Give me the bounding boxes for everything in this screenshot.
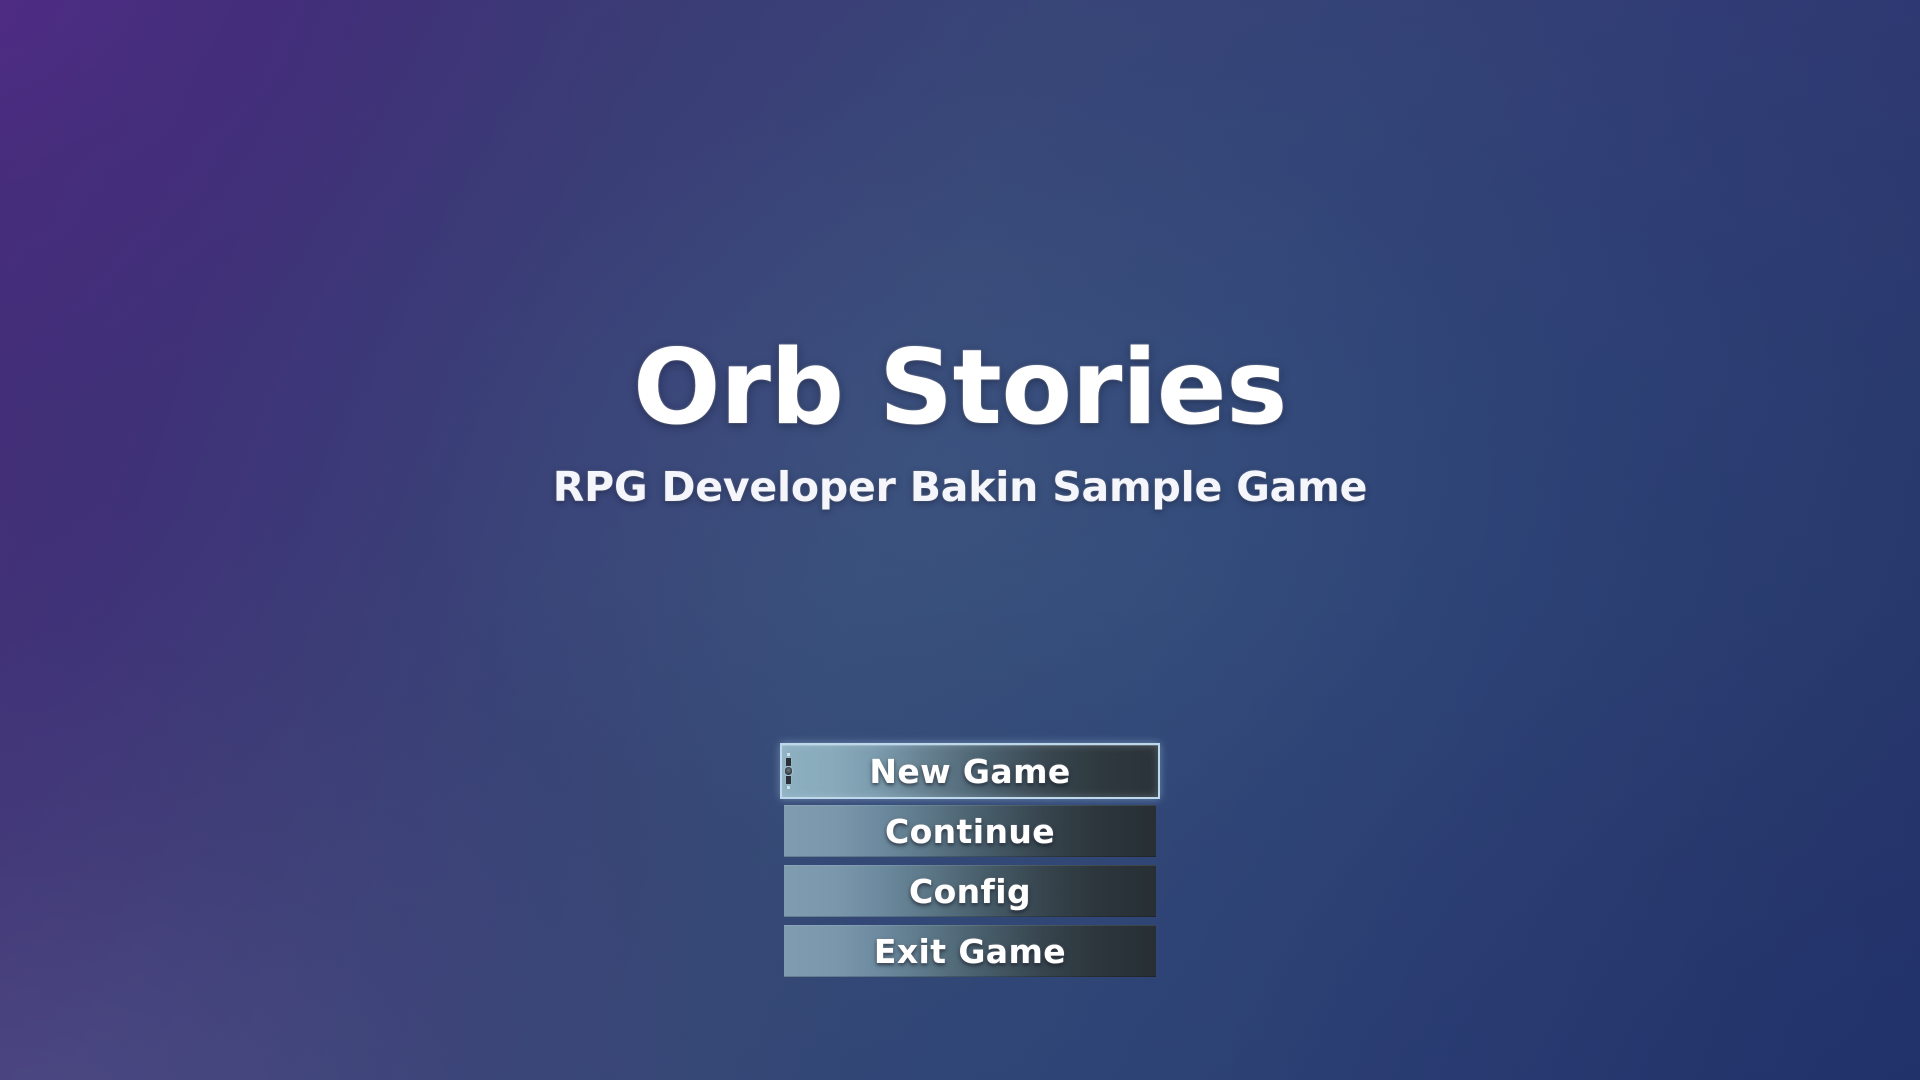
title-screen: Orb Stories RPG Developer Bakin Sample G…	[0, 0, 1920, 1080]
menu-item-label: Exit Game	[874, 935, 1066, 968]
menu-item-label: New Game	[869, 755, 1070, 788]
menu-item-new-game[interactable]: New Game	[780, 743, 1160, 799]
menu-item-exit-game[interactable]: Exit Game	[784, 925, 1156, 977]
menu-item-label: Continue	[885, 815, 1055, 848]
main-menu: New Game Continue Config Exit Game	[784, 747, 1156, 977]
menu-item-config[interactable]: Config	[784, 865, 1156, 917]
menu-item-continue[interactable]: Continue	[784, 805, 1156, 857]
menu-item-label: Config	[909, 875, 1031, 908]
game-title: Orb Stories	[0, 337, 1920, 440]
selection-cursor-icon	[785, 751, 792, 791]
title-logo-block: Orb Stories RPG Developer Bakin Sample G…	[0, 337, 1920, 509]
game-subtitle: RPG Developer Bakin Sample Game	[0, 466, 1920, 509]
